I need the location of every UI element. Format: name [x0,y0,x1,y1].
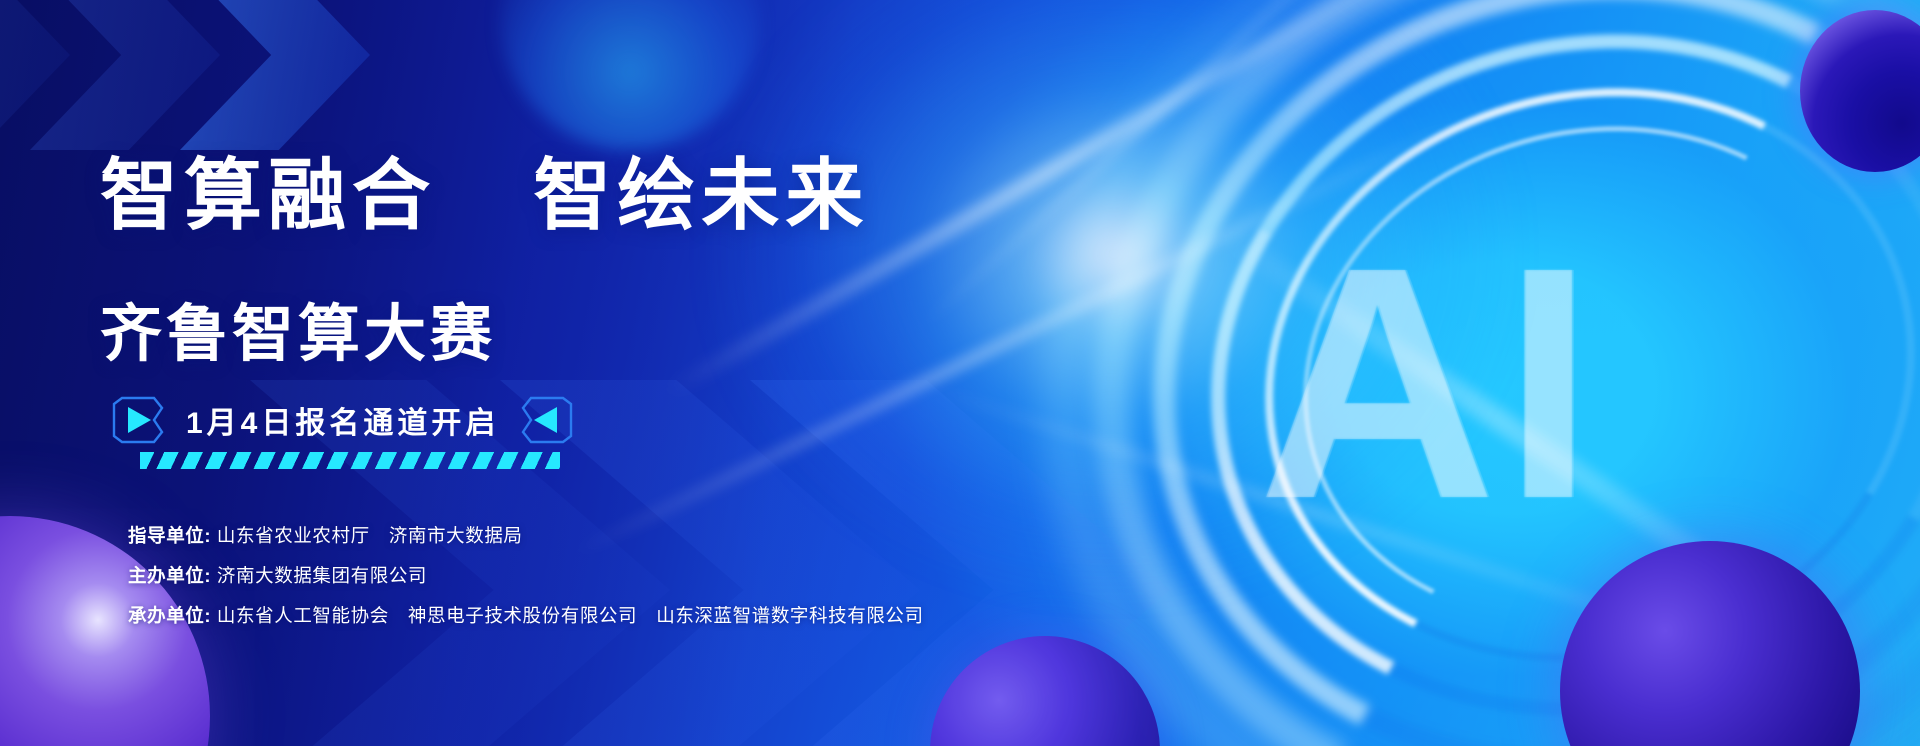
credit-label: 承办单位: [128,605,211,626]
credit-label: 主办单位: [128,565,211,586]
banner-subtitle: 齐鲁智算大赛 [100,283,496,373]
play-triangle-right-icon [108,396,164,444]
event-banner: AI 智算融合 智绘未来 齐鲁智算大赛 1月4日报名通道开启 指导单位: 山东省… [0,0,1920,746]
credit-value: 山东省人工智能协会 神思电子技术股份有限公司 山东深蓝智谱数字科技有限公司 [217,605,924,626]
banner-content: 智算融合 智绘未来 齐鲁智算大赛 1月4日报名通道开启 指导单位: 山东省农业农… [0,0,1920,746]
banner-title-line1: 智算融合 智绘未来 [100,133,869,245]
credit-row: 主办单位: 济南大数据集团有限公司 [128,562,924,588]
credit-label: 指导单位: [128,525,211,546]
play-triangle-left-icon [521,396,577,444]
registration-date-row: 1月4日报名通道开启 [108,396,577,444]
registration-date-text: 1月4日报名通道开启 [186,398,499,442]
credit-row: 承办单位: 山东省人工智能协会 神思电子技术股份有限公司 山东深蓝智谱数字科技有… [128,602,924,628]
credit-value: 济南大数据集团有限公司 [217,565,427,586]
credit-row: 指导单位: 山东省农业农村厅 济南市大数据局 [128,522,924,548]
diagonal-stripe-bar [140,452,560,469]
credit-value: 山东省农业农村厅 济南市大数据局 [217,525,523,546]
organizer-credits: 指导单位: 山东省农业农村厅 济南市大数据局 主办单位: 济南大数据集团有限公司… [128,522,924,642]
banner-title-part1: 智算融合 [100,151,436,239]
banner-title-part2: 智绘未来 [533,151,869,239]
